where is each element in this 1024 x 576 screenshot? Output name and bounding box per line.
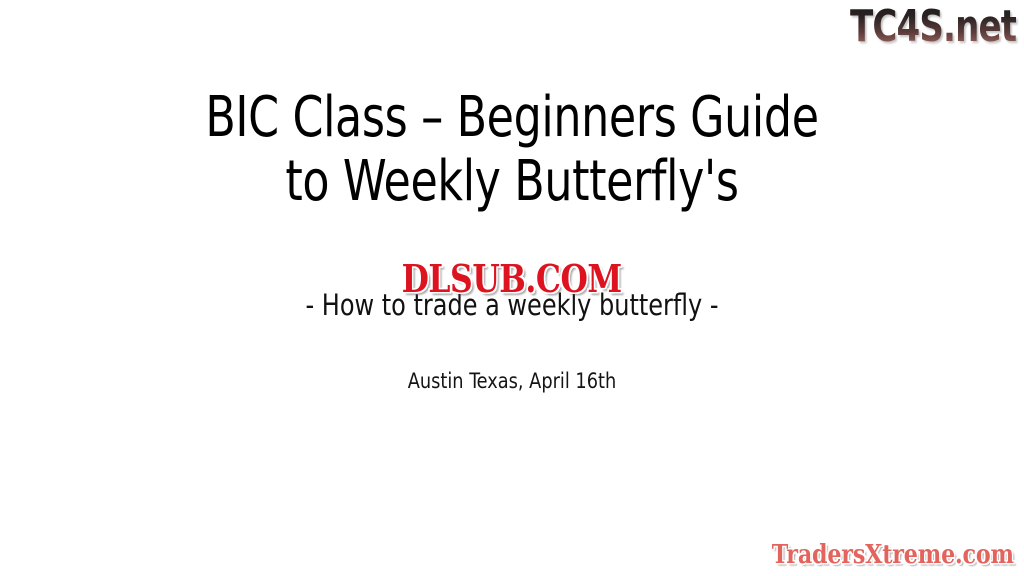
slide-title: BIC Class – Beginners Guide to Weekly Bu… [0, 86, 1024, 214]
tc4s-logo-watermark: TC4S.net [850, 2, 1016, 52]
slide-title-line-2: to Weekly Butterfly's [61, 150, 962, 214]
slide-dateline: Austin Texas, April 16th [31, 368, 994, 394]
presentation-slide: TC4S.net BIC Class – Beginners Guide to … [0, 0, 1024, 576]
slide-title-line-1: BIC Class – Beginners Guide [61, 86, 962, 150]
tradersxtreme-watermark: TradersXtreme.com [772, 540, 1014, 570]
slide-subtitle: - How to trade a weekly butterfly - [41, 288, 983, 322]
